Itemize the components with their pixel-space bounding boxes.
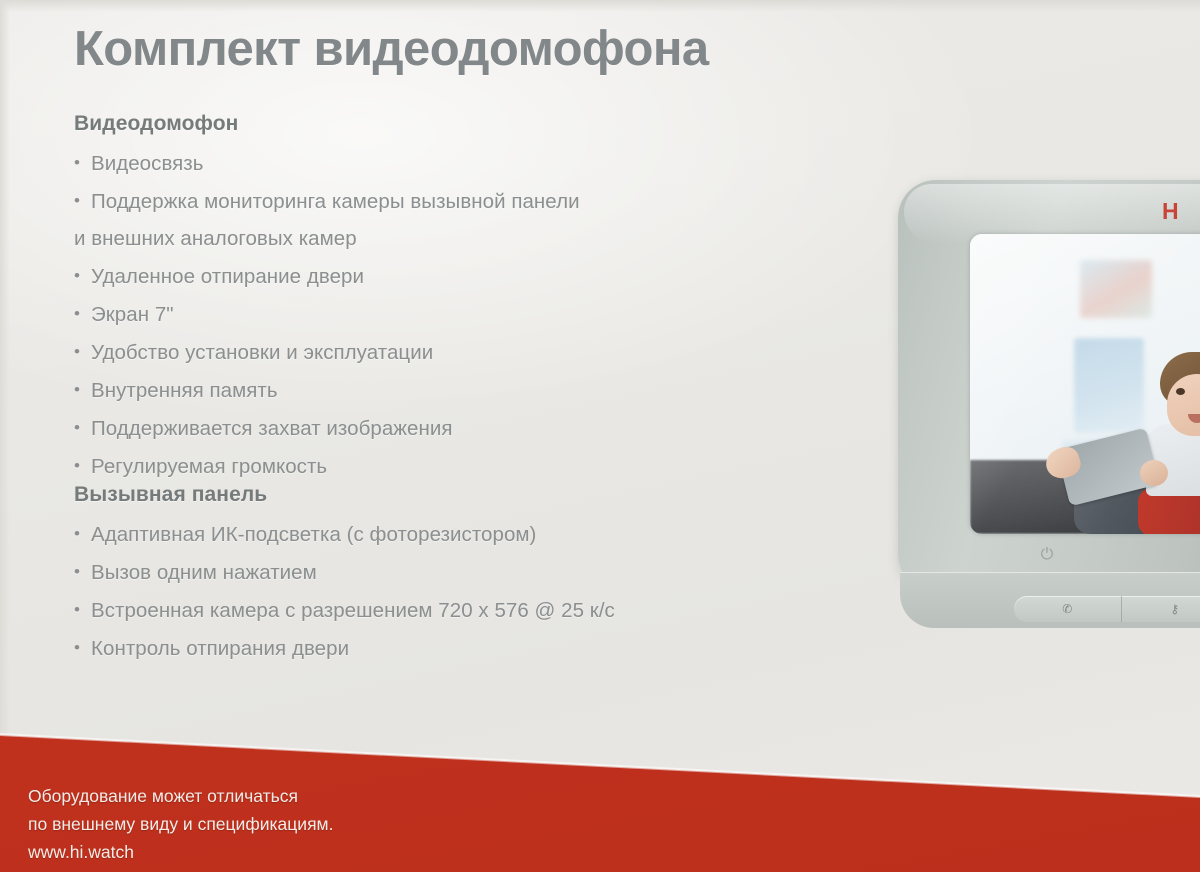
section-heading: Вызывная панель [74,483,615,507]
feature-list-2: Адаптивная ИК-подсветка (с фоторезисторо… [74,515,615,667]
list-item: Экран 7" [74,295,580,333]
brand-logo: H [1162,198,1179,225]
paper-edge-top [0,0,1200,12]
list-item-continuation: и внешних аналоговых камер [74,220,580,257]
talk-icon[interactable]: ✆ [1014,596,1121,622]
device-photo: H ⏻ ✆ ⚷ [898,180,1200,628]
footer-url-hikvision: www.hikvision.ru [28,866,333,872]
footer-url-hiwatch: www.hi.watch [28,838,333,866]
list-item: Регулируемая громкость [74,447,580,485]
list-item: Удаленное отпирание двери [74,257,580,295]
list-item: Контроль отпирания двери [74,629,615,667]
monitor-screen [970,234,1200,534]
feature-list-1: Видеосвязь Поддержка мониторинга камеры … [74,144,580,485]
footer-line-1: Оборудование может отличаться [28,782,333,810]
list-item: Вызов одним нажатием [74,553,615,591]
unlock-key-icon[interactable]: ⚷ [1121,596,1200,622]
list-item: Поддержка мониторинга камеры вызывной па… [74,182,580,220]
list-item: Внутренняя память [74,371,580,409]
list-item: Встроенная камера с разрешением 720 x 57… [74,591,615,629]
footer-line-2: по внешнему виду и спецификациям. [28,810,333,838]
section-heading: Видеодомофон [74,112,580,136]
screen-child [1120,352,1200,534]
page-title: Комплект видеодомофона [74,24,709,76]
power-icon: ⏻ [1038,546,1056,564]
package-artwork: Комплект видеодомофона Видеодомофон Виде… [0,0,1200,872]
list-item: Адаптивная ИК-подсветка (с фоторезисторо… [74,515,615,553]
list-item: Удобство установки и эксплуатации [74,333,580,371]
list-item: Видеосвязь [74,144,580,182]
section-videodomofon: Видеодомофон Видеосвязь Поддержка монито… [74,112,580,485]
screen-poster-top [1080,260,1152,318]
footer-disclaimer: Оборудование может отличаться по внешнем… [28,782,333,872]
child-hand-right [1140,460,1168,486]
child-eye-left [1176,388,1185,395]
section-vyzyvnaya-panel: Вызывная панель Адаптивная ИК-подсветка … [74,483,615,667]
list-item: Поддерживается захват изображения [74,409,580,447]
button-strip[interactable]: ✆ ⚷ [1014,596,1200,622]
paper-edge-left [0,0,10,872]
